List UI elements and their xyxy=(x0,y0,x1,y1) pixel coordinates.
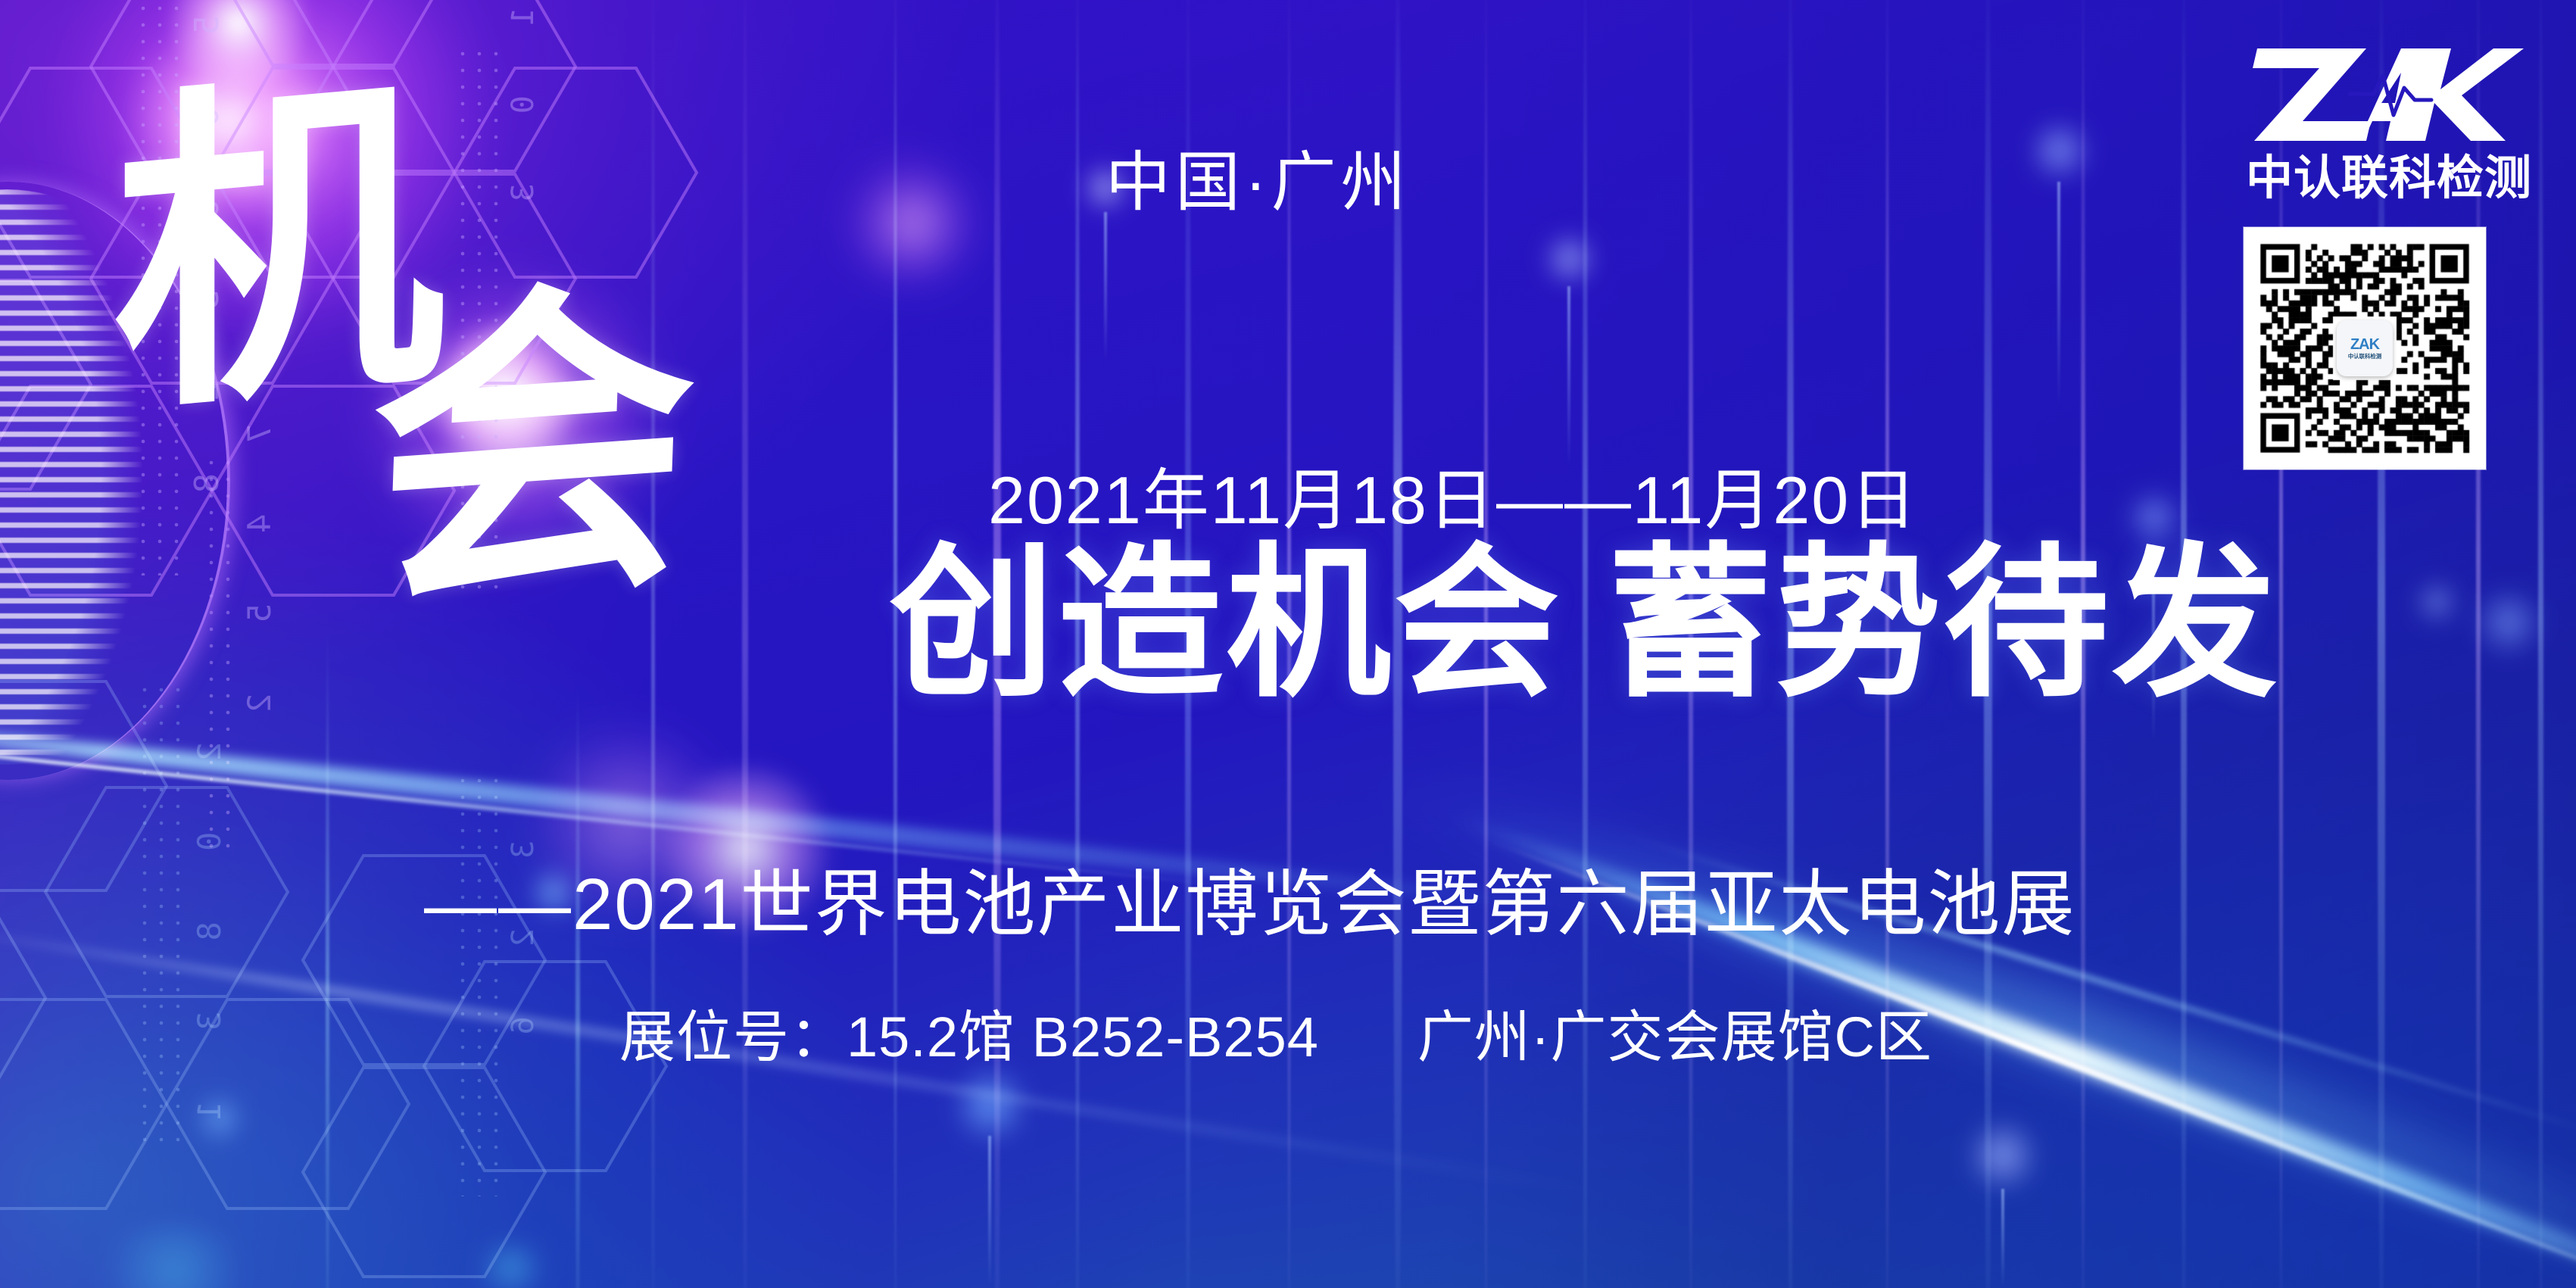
qr-badge-mark: ZAK xyxy=(2350,337,2379,352)
booth-number: 展位号：15.2馆 B252-B254 xyxy=(619,1006,1319,1068)
booth-info: 展位号：15.2馆 B252-B254广州·广交会展馆C区 xyxy=(619,992,1932,1073)
event-dates: 2021年11月18日——11月20日 xyxy=(988,447,1918,543)
venue-name: 广州·广交会展馆C区 xyxy=(1417,1006,1932,1068)
qr-badge-text: 中认联科检测 xyxy=(2348,354,2381,359)
headline-part-left: 创造机会 xyxy=(890,532,1562,716)
headline-part-right: 蓄势待发 xyxy=(1608,532,2280,716)
zak-logo: 中认联科检测 xyxy=(2238,45,2540,207)
logo-company-name: 中认联科检测 xyxy=(2238,139,2540,207)
zak-logo-mark xyxy=(2253,45,2525,144)
promo-banner: 5 0 6 3 2 8 1 0 3 7 4 5 2 2 0 8 3 1 3 2 … xyxy=(0,0,2576,1288)
city-label: 中国·广州 xyxy=(1106,129,1411,223)
calligraphy-jihui: 机 会 xyxy=(104,114,907,712)
qr-center-badge: ZAK 中认联科检测 xyxy=(2337,320,2393,376)
event-subtitle: ——2021世界电池产业博览会暨第六届亚太电池展 xyxy=(424,845,2076,950)
banner-content: 机 会 中国·广州 2021年11月18日——11月20日 创造机会蓄势待发 —… xyxy=(0,0,2576,1288)
headline: 创造机会蓄势待发 xyxy=(890,542,2280,707)
calligraphy-char-hui: 会 xyxy=(365,306,699,591)
wechat-qr-code[interactable]: ZAK 中认联科检测 xyxy=(2244,227,2486,469)
